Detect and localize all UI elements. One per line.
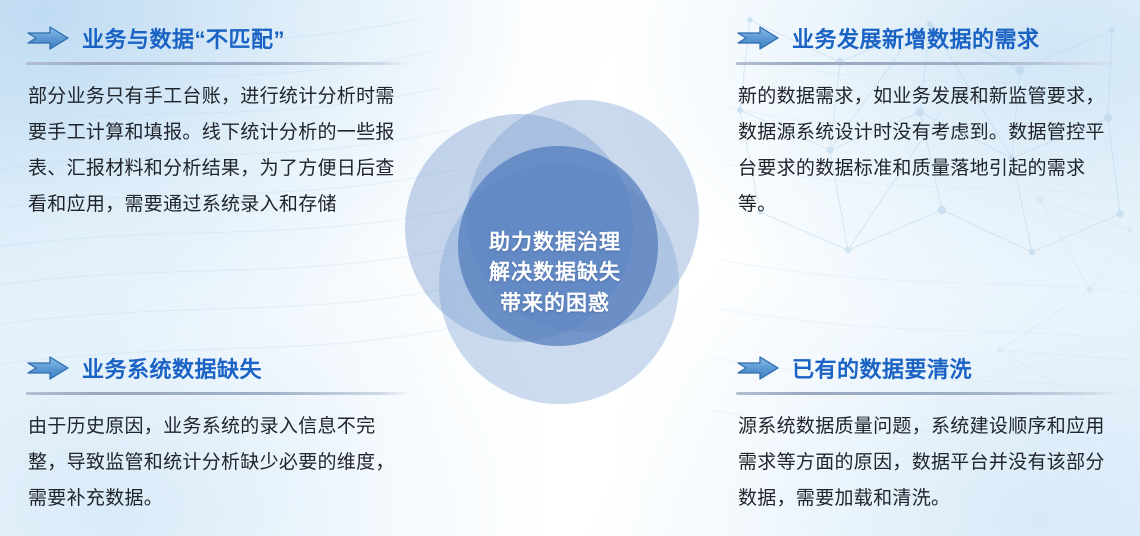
block-existing-data-cleaning: 已有的数据要清洗 源系统数据质量问题，系统建设顺序和应用需求等方面的原因，数据平…: [730, 348, 1120, 517]
arrow-right-icon: [736, 25, 780, 51]
arrow-right-icon: [26, 25, 70, 51]
block-title: 业务系统数据缺失: [82, 352, 262, 384]
title-underline: [736, 392, 1120, 395]
arrow-right-icon: [26, 355, 70, 381]
block-body: 由于历史原因，业务系统的录入信息不完整，导致监管和统计分析缺少必要的维度，需要补…: [20, 409, 400, 517]
block-header: 业务系统数据缺失: [20, 348, 410, 388]
block-body: 新的数据需求，如业务发展和新监管要求，数据源系统设计时没有考虑到。数据管控平台要…: [730, 79, 1118, 223]
center-slogan: 助力数据治理 解决数据缺失 带来的困惑: [405, 228, 705, 319]
block-system-data-missing: 业务系统数据缺失 由于历史原因，业务系统的录入信息不完整，导致监管和统计分析缺少…: [20, 348, 410, 517]
block-new-data-demand: 业务发展新增数据的需求 新的数据需求，如业务发展和新监管要求，数据源系统设计时没…: [730, 18, 1120, 223]
block-header: 业务发展新增数据的需求: [730, 18, 1120, 58]
block-title: 业务与数据“不匹配”: [82, 22, 285, 54]
block-title: 已有的数据要清洗: [792, 352, 972, 384]
block-body: 源系统数据质量问题，系统建设顺序和应用需求等方面的原因，数据平台并没有该部分数据…: [730, 409, 1118, 517]
block-header: 业务与数据“不匹配”: [20, 18, 410, 58]
block-body: 部分业务只有手工台账，进行统计分析时需要手工计算和填报。线下统计分析的一些报表、…: [20, 79, 400, 223]
title-underline: [736, 62, 1120, 65]
arrow-right-icon: [736, 355, 780, 381]
slide-canvas: 助力数据治理 解决数据缺失 带来的困惑 业务与数据“不匹配” 部分业务只有手工台…: [0, 0, 1140, 536]
title-underline: [26, 392, 410, 395]
block-title: 业务发展新增数据的需求: [792, 22, 1040, 54]
title-underline: [26, 62, 410, 65]
block-header: 已有的数据要清洗: [730, 348, 1120, 388]
center-circle-cluster: 助力数据治理 解决数据缺失 带来的困惑: [405, 100, 705, 400]
block-business-data-mismatch: 业务与数据“不匹配” 部分业务只有手工台账，进行统计分析时需要手工计算和填报。线…: [20, 18, 410, 223]
